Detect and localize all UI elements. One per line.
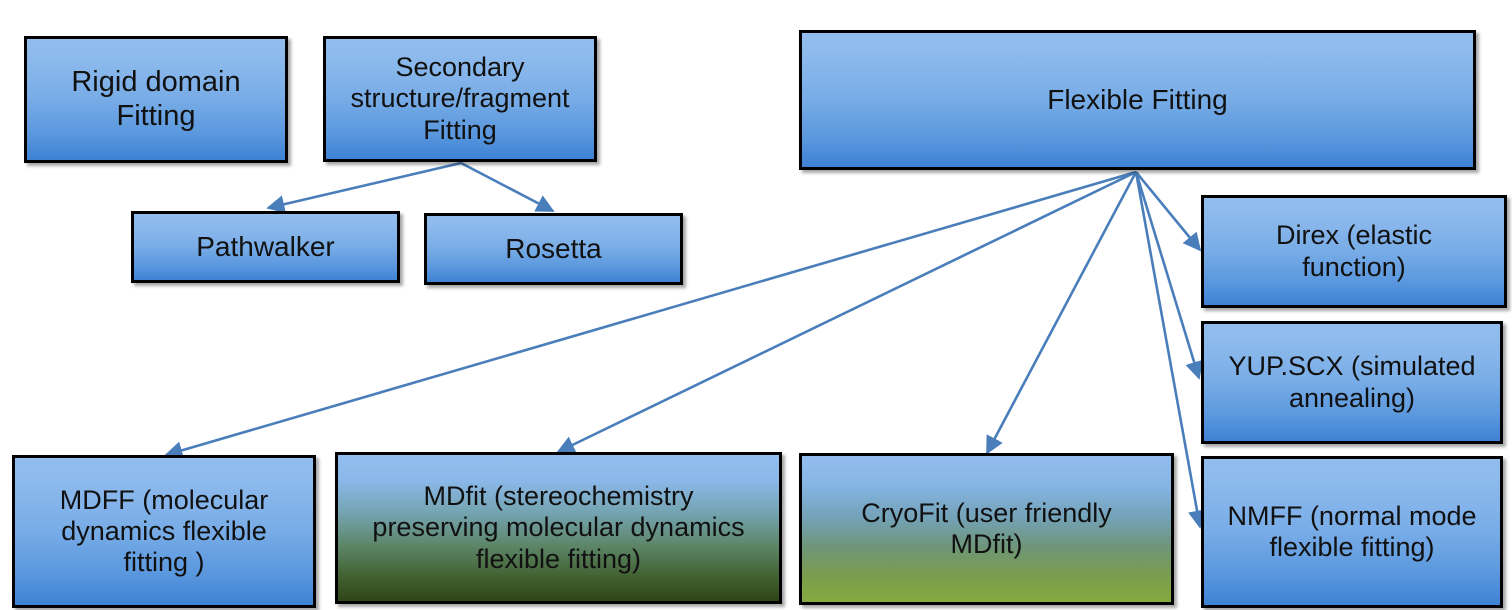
node-direx[interactable]: Direx (elastic function): [1201, 195, 1507, 308]
arrow-flexible-to-direx: [1136, 172, 1200, 250]
node-flexible-fitting[interactable]: Flexible Fitting: [799, 30, 1476, 170]
node-mdfit[interactable]: MDfit (stereochemistry preserving molecu…: [335, 452, 782, 604]
node-cryofit[interactable]: CryoFit (user friendly MDfit): [799, 453, 1174, 605]
arrow-secondary-to-pathwalker: [268, 163, 461, 208]
diagram-canvas: Rigid domain FittingSecondary structure/…: [0, 0, 1512, 610]
node-rigid-domain-fitting[interactable]: Rigid domain Fitting: [24, 36, 288, 163]
arrow-secondary-to-rosetta: [461, 163, 553, 211]
node-pathwalker[interactable]: Pathwalker: [131, 211, 400, 283]
node-nmff[interactable]: NMFF (normal mode flexible fitting): [1201, 456, 1503, 608]
node-mdff[interactable]: MDFF (molecular dynamics flexible fittin…: [12, 455, 316, 608]
arrow-flexible-to-yupscx: [1136, 172, 1199, 378]
node-rosetta[interactable]: Rosetta: [424, 213, 683, 285]
node-secondary-structure-fragment-fitting[interactable]: Secondary structure/fragment Fitting: [323, 36, 597, 162]
arrow-flexible-to-cryofit: [987, 172, 1136, 453]
node-yup-scx[interactable]: YUP.SCX (simulated annealing): [1201, 321, 1503, 444]
